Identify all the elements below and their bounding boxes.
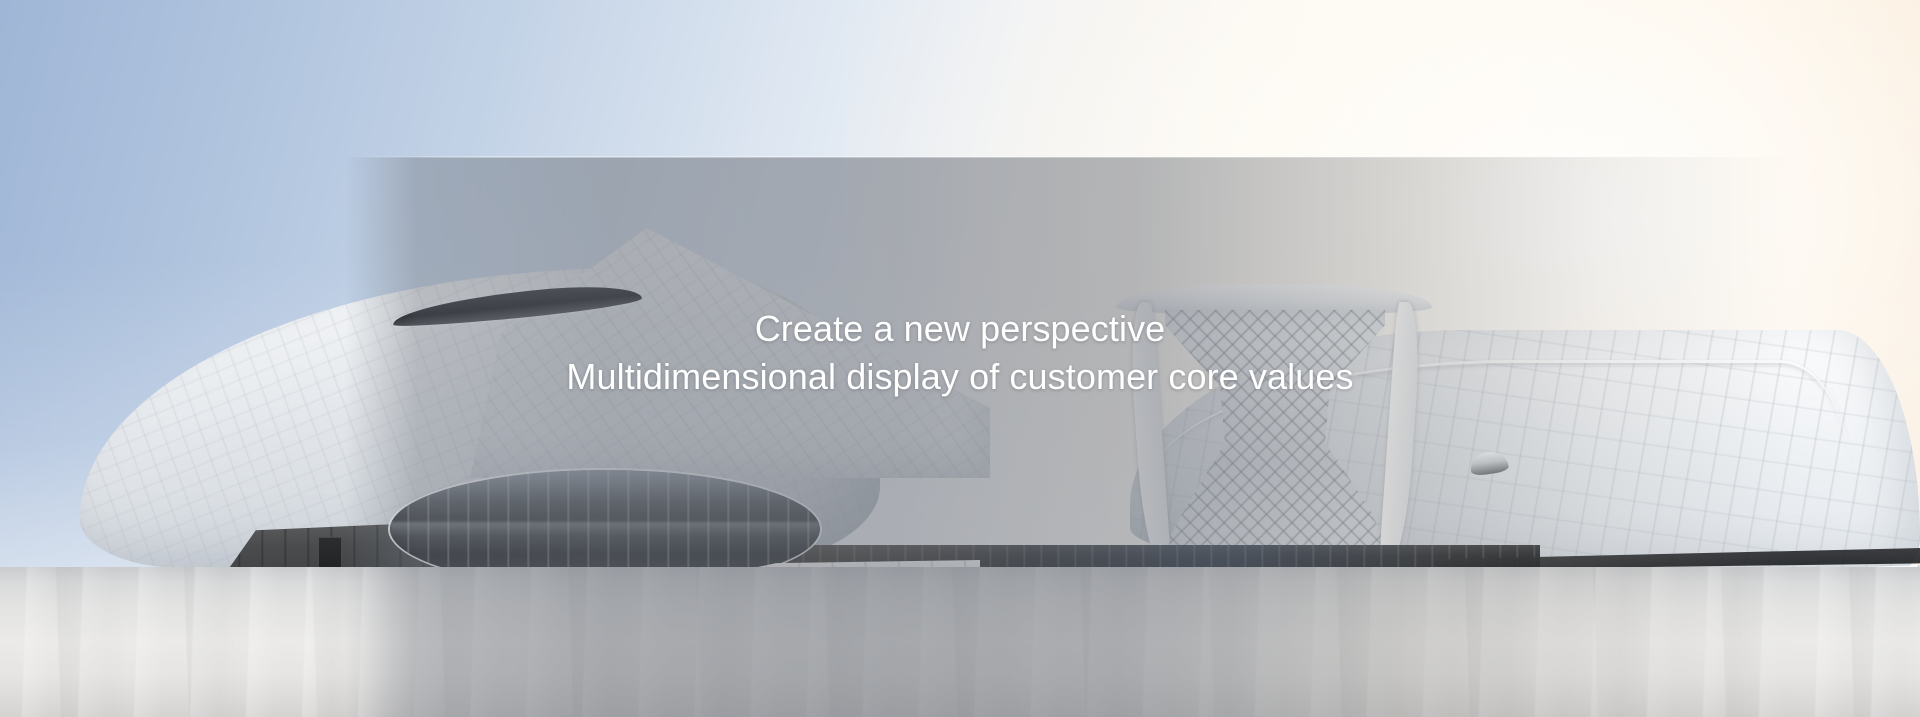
hero-banner: Create a new perspective Multidimensiona… [0, 0, 1920, 717]
headline-line-1: Create a new perspective [0, 305, 1920, 353]
banner-headline: Create a new perspective Multidimensiona… [0, 305, 1920, 401]
grey-scrim-top-edge [345, 156, 1790, 158]
snow-plaza-ground [0, 567, 1920, 717]
headline-line-2: Multidimensional display of customer cor… [0, 353, 1920, 401]
snow-texture [0, 567, 1920, 717]
